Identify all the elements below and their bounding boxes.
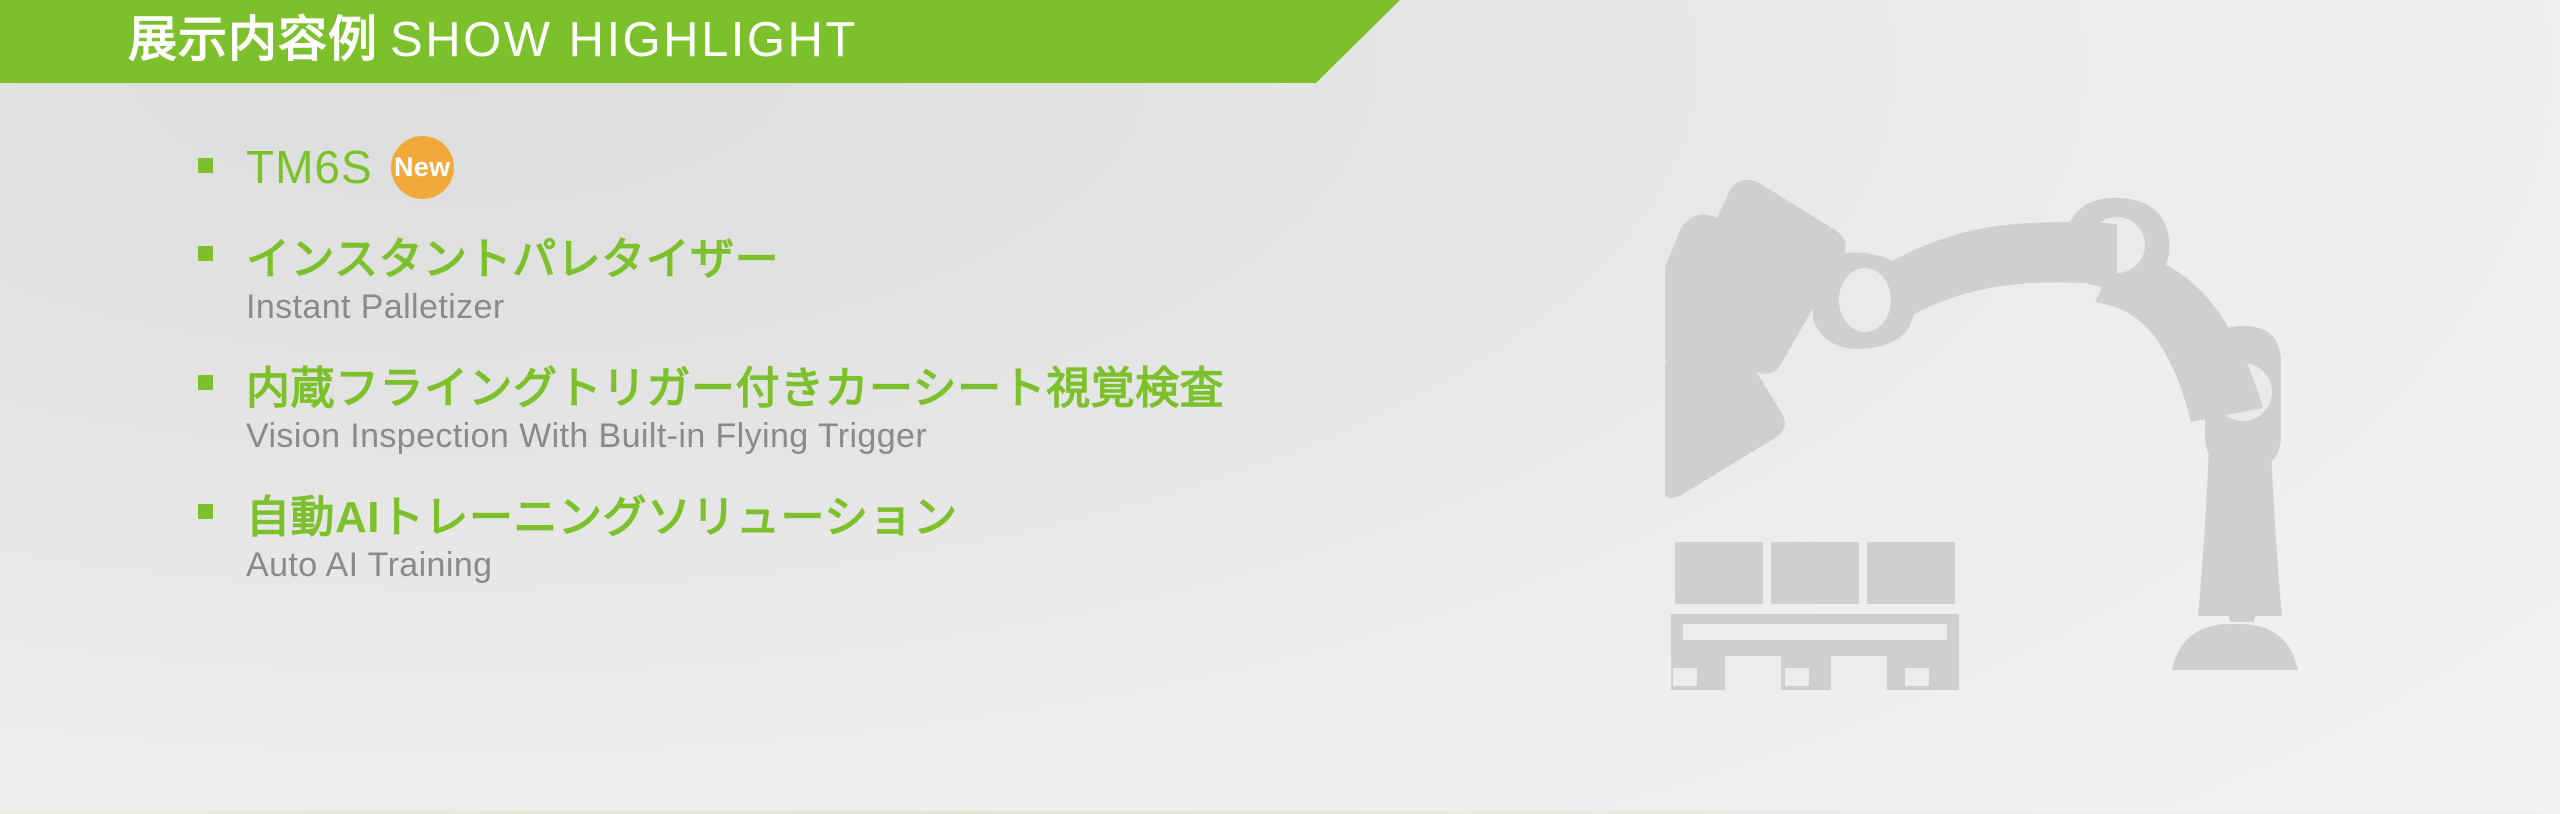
slide-root: 展示内容例SHOW HIGHLIGHT TM6S New インスタントパレタイザ…	[0, 0, 2560, 814]
robot-gripper-finger-mid	[1665, 402, 1711, 450]
new-badge: New	[391, 136, 454, 199]
robot-shoulder-joint-circle	[2089, 217, 2145, 273]
robot-boom	[1865, 222, 2117, 330]
list-item: 内蔵フライングトリガー付きカーシート視覚検査 Vision Inspection…	[198, 353, 1498, 456]
robot-elbow-joint-circle	[2214, 363, 2272, 421]
pallet-foot-hole-1	[1673, 668, 1697, 686]
robot-gripper-finger-top	[1665, 366, 1729, 422]
robot-tool-flange	[1675, 180, 1845, 374]
list-item: TM6S New	[198, 136, 1498, 198]
list-item-title-row: インスタントパレタイザー	[246, 224, 1498, 286]
pallet-body	[1671, 614, 1959, 690]
list-item-title-row: 内蔵フライングトリガー付きカーシート視覚検査	[246, 353, 1498, 415]
pallet-box-3	[1867, 542, 1955, 604]
robot-wrist-joint-circle	[1839, 268, 1891, 332]
robot-camera-body	[1665, 215, 1767, 375]
page-title: 展示内容例SHOW HIGHLIGHT	[128, 0, 858, 83]
pallet-gap-1	[1725, 656, 1781, 690]
list-item-title: 自動AIトレーニングソリューション	[246, 481, 958, 545]
bullet-square-icon	[198, 504, 213, 519]
robot-lower-arm	[2198, 420, 2282, 616]
list-item-subtitle: Instant Palletizer	[246, 288, 1498, 327]
bullet-square-icon	[198, 158, 213, 173]
page-title-japanese: 展示内容例	[128, 13, 378, 67]
robot-base-foot	[2172, 624, 2298, 670]
bullet-square-icon	[198, 246, 213, 261]
list-item: インスタントパレタイザー Instant Palletizer	[198, 224, 1498, 327]
list-item-title-row: 自動AIトレーニングソリューション	[246, 482, 1498, 544]
robot-shoulder-housing	[2065, 198, 2169, 287]
robot-arm-illustration	[1665, 170, 2385, 690]
header-band: 展示内容例SHOW HIGHLIGHT	[0, 0, 1400, 83]
page-title-english: SHOW HIGHLIGHT	[390, 13, 858, 67]
highlight-list: TM6S New インスタントパレタイザー Instant Palletizer…	[198, 136, 1498, 585]
list-item-title: 内蔵フライングトリガー付きカーシート視覚検査	[246, 352, 1224, 416]
pallet-slot-top	[1683, 624, 1947, 640]
robot-arm-icon	[1665, 180, 2298, 690]
list-item-title-row: TM6S New	[246, 136, 1498, 198]
list-item-subtitle: Vision Inspection With Built-in Flying T…	[246, 417, 1498, 456]
robot-held-box	[1665, 330, 1785, 498]
robot-base-neck	[2208, 560, 2276, 622]
robot-gripper-finger-bottom	[1671, 420, 1711, 460]
bullet-square-icon	[198, 375, 213, 390]
pallet-box-2	[1771, 542, 1859, 604]
robot-elbow-housing	[2205, 326, 2281, 470]
pallet-gap-2	[1831, 656, 1887, 690]
list-item-subtitle: Auto AI Training	[246, 546, 1498, 585]
list-item: 自動AIトレーニングソリューション Auto AI Training	[198, 482, 1498, 585]
robot-wrist-housing	[1813, 252, 1915, 348]
pallet-box-1	[1675, 542, 1763, 604]
pallet-foot-hole-2	[1785, 668, 1809, 686]
pallet-foot-hole-3	[1905, 668, 1929, 686]
list-item-title: TM6S	[246, 140, 373, 194]
robot-upper-arm	[2095, 250, 2263, 422]
list-item-title: インスタントパレタイザー	[246, 223, 779, 287]
